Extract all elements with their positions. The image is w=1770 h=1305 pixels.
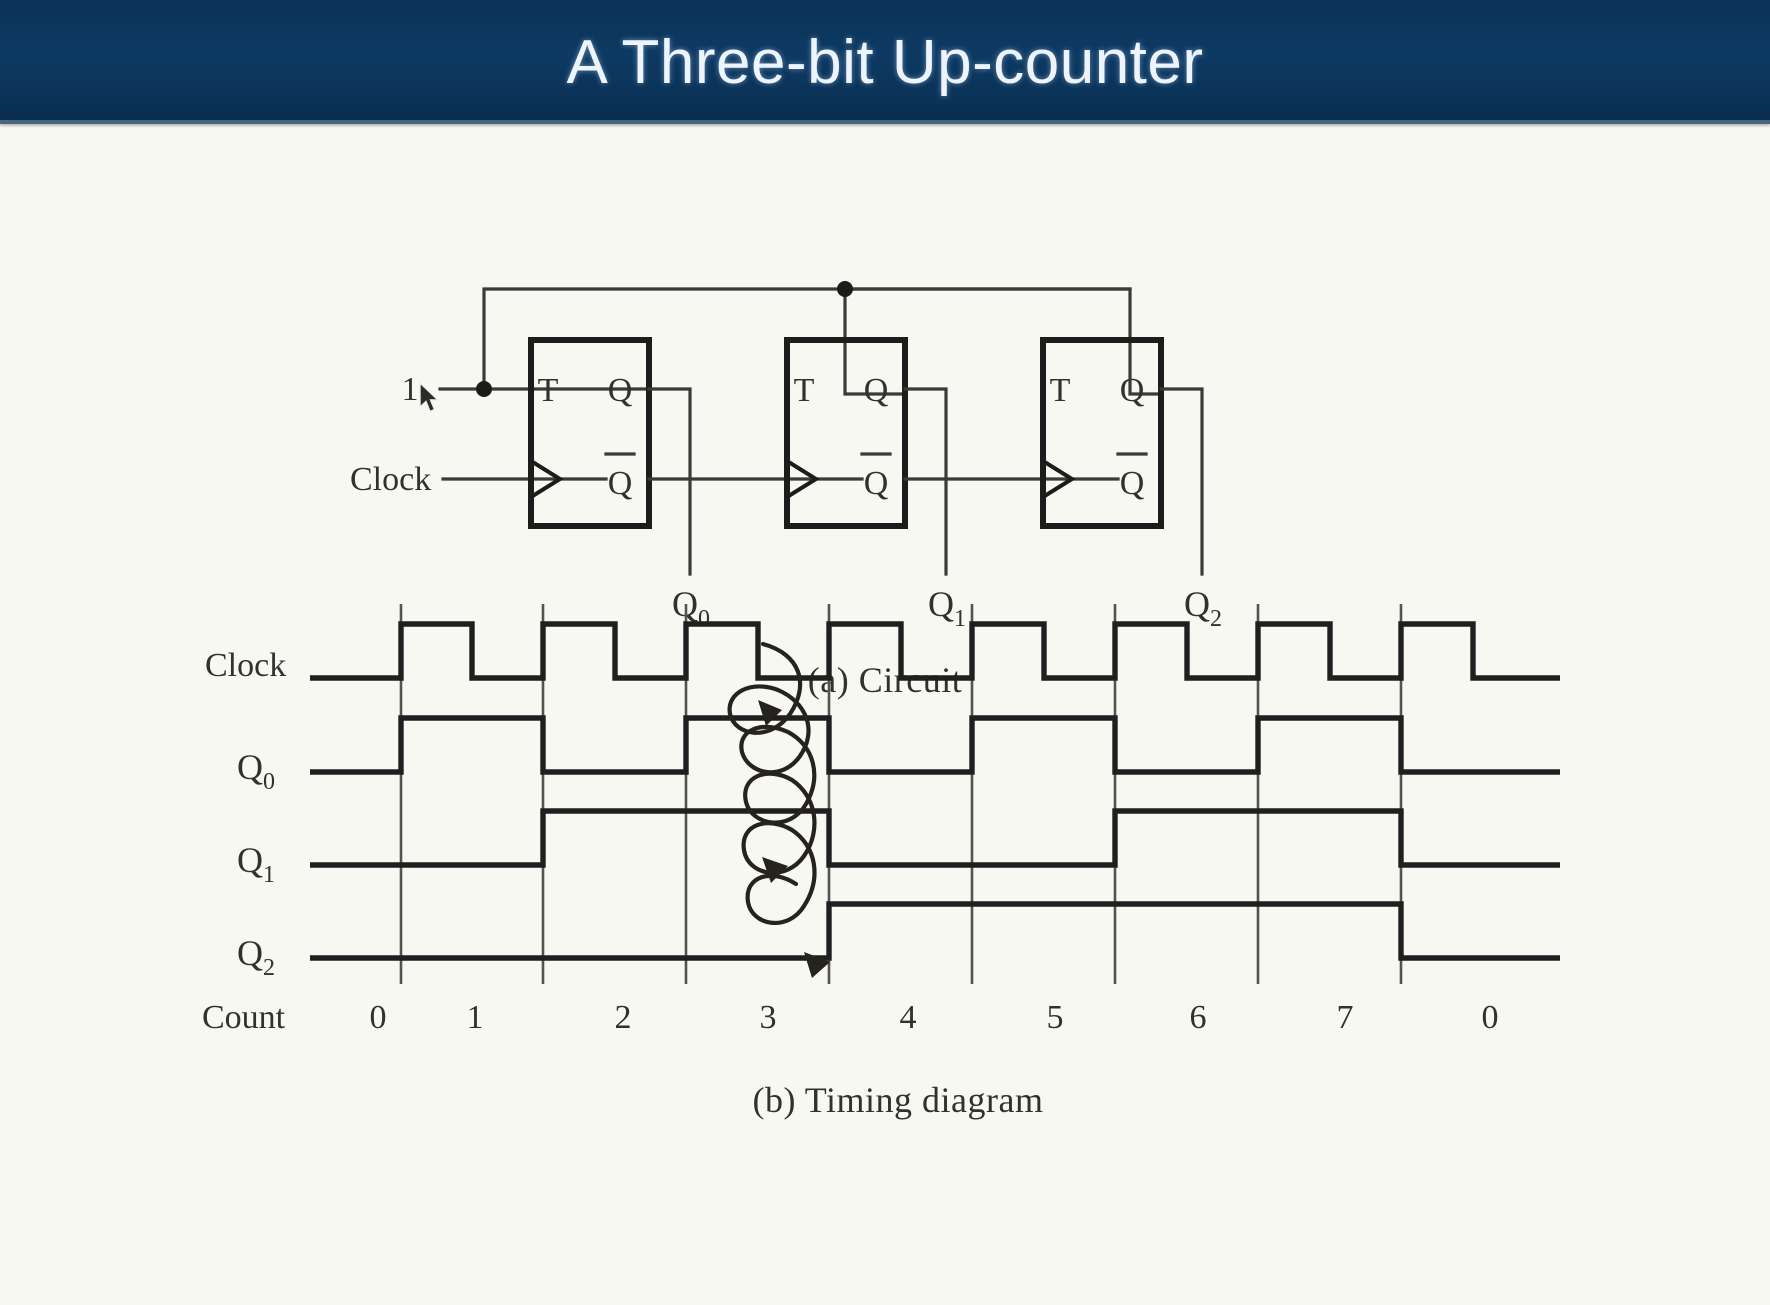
timing-row-labels: Clock Q0 Q1 Q2 xyxy=(205,647,286,981)
slide-title-bar: A Three-bit Up-counter xyxy=(0,0,1770,124)
circuit-diagram: 1 Clock T Q Q xyxy=(350,281,1222,700)
output-label-q1: Q1 xyxy=(928,584,966,632)
waveform-q2 xyxy=(310,904,1560,958)
count-value: 5 xyxy=(1047,999,1064,1036)
flipflop-1-t-label: T xyxy=(794,372,815,409)
count-row: Count 0 1 2 3 4 5 6 7 0 xyxy=(202,999,1499,1036)
flipflop-0-qbar-label: Q xyxy=(608,465,633,502)
flipflop-0-q-label: Q xyxy=(608,372,633,409)
count-value: 2 xyxy=(615,999,632,1036)
count-value: 0 xyxy=(370,999,387,1036)
timing-label-q1: Q1 xyxy=(237,840,275,888)
flipflop-0-t-label: T xyxy=(538,372,559,409)
count-value: 6 xyxy=(1190,999,1207,1036)
figure-container: 1 Clock T Q Q xyxy=(0,124,1770,1305)
slide-page: A Three-bit Up-counter 1 Clock xyxy=(0,0,1770,1305)
count-value: 1 xyxy=(467,999,484,1036)
flipflop-1-q-label: Q xyxy=(864,372,889,409)
page-title: A Three-bit Up-counter xyxy=(566,27,1203,98)
flipflop-0: T Q Q xyxy=(531,340,649,526)
waveform-q1 xyxy=(310,811,1560,865)
timing-label-clock: Clock xyxy=(205,647,286,684)
timing-label-q0: Q0 xyxy=(237,747,275,795)
count-value: 7 xyxy=(1337,999,1354,1036)
clock-input-label: Clock xyxy=(350,461,431,498)
counter-figure: 1 Clock T Q Q xyxy=(0,124,1770,1305)
flipflop-2-q-label: Q xyxy=(1120,372,1145,409)
flipflop-2-qbar-label: Q xyxy=(1120,465,1145,502)
junction-dot-bus xyxy=(837,281,853,297)
count-value: 0 xyxy=(1482,999,1499,1036)
count-value: 3 xyxy=(760,999,777,1036)
waveform-q0 xyxy=(310,718,1560,772)
timing-caption: (b) Timing diagram xyxy=(752,1080,1043,1120)
wire-ff2-q-out xyxy=(1161,389,1202,574)
wire-ff1-q-out xyxy=(905,389,946,574)
wire-ff0-q-out xyxy=(649,389,690,574)
timing-label-q2: Q2 xyxy=(237,933,275,981)
count-row-label: Count xyxy=(202,999,286,1036)
junction-dot-input xyxy=(476,381,492,397)
ink-arrowhead-q0 xyxy=(758,700,782,726)
flipflop-2: T Q Q xyxy=(1043,340,1161,526)
flipflop-1-qbar-label: Q xyxy=(864,465,889,502)
count-value: 4 xyxy=(900,999,917,1036)
flipflop-2-t-label: T xyxy=(1050,372,1071,409)
input-one-label: 1 xyxy=(402,371,419,408)
